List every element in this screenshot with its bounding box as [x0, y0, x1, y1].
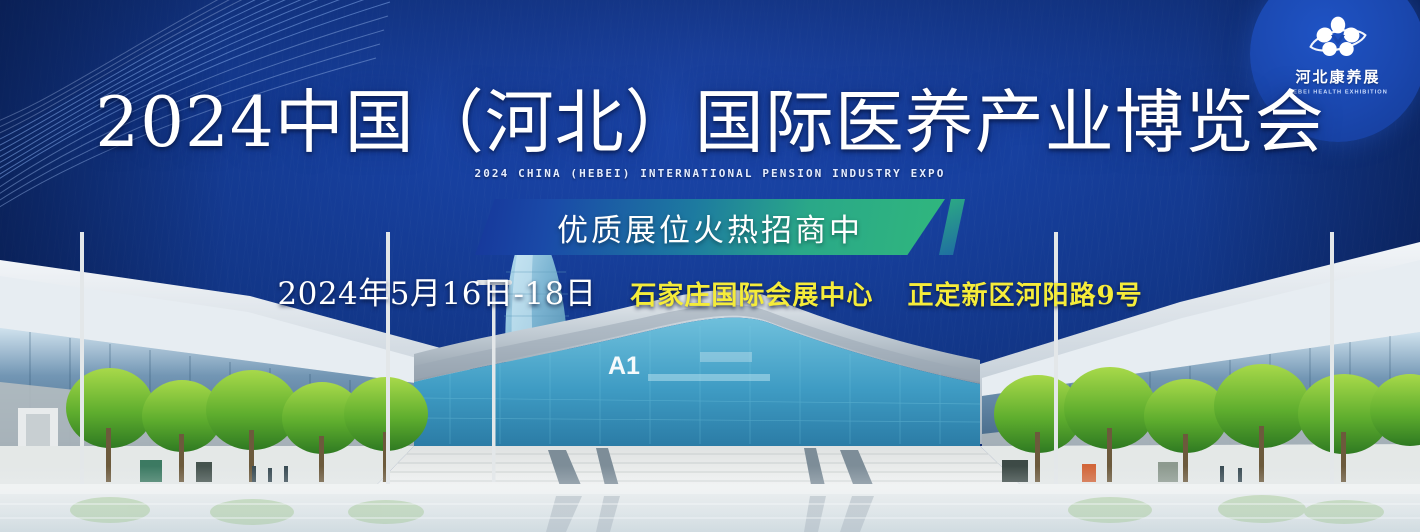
venue-address: 正定新区河阳路9号 — [908, 281, 1143, 311]
water-reflection — [0, 494, 1420, 532]
expo-title-en: 2024 CHINA (HEBEI) INTERNATIONAL PENSION… — [0, 167, 1420, 180]
venue-name: 石家庄国际会展中心 — [630, 281, 873, 311]
booth-promo-ribbon: 优质展位火热招商中 — [0, 199, 1420, 255]
flower-orbit-icon — [1307, 16, 1369, 64]
event-venue: 石家庄国际会展中心 正定新区河阳路9号 — [630, 275, 1142, 312]
expo-promo-banner: 河北康养展 HEBEI HEALTH EXHIBITION 2024中国（河北）… — [0, 0, 1420, 532]
main-hall: A1 — [414, 290, 980, 446]
hall-sign-a1: A1 — [608, 352, 640, 380]
expo-title-cn: 2024中国（河北）国际医养产业博览会 — [0, 88, 1420, 158]
headline-block: 2024中国（河北）国际医养产业博览会 2024 CHINA (HEBEI) I… — [0, 88, 1420, 180]
ribbon-label: 优质展位火热招商中 — [475, 199, 945, 255]
event-date: 2024年5月16日-18日 — [277, 268, 596, 313]
event-info-line: 2024年5月16日-18日 石家庄国际会展中心 正定新区河阳路9号 — [0, 268, 1420, 313]
